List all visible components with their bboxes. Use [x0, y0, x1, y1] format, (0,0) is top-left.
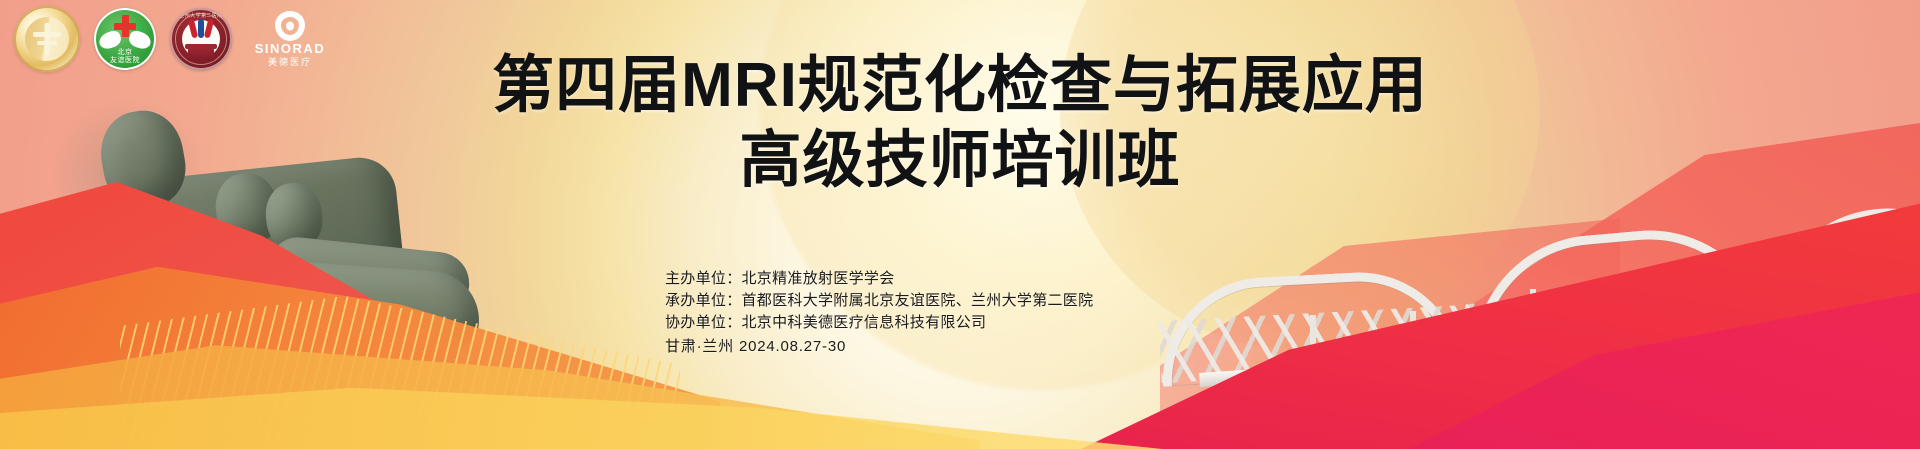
emblem-horizontal-stroke — [33, 32, 61, 37]
friendship-hospital-label: 北京友谊医院 — [94, 49, 156, 65]
title-line-2: 高级技师培训班 — [0, 129, 1920, 192]
co-organizer-unit-line: 协办单位：北京中科美德医疗信息科技有限公司 — [665, 312, 1093, 334]
banner-title-block: 第四届MRI规范化检查与拓展应用 高级技师培训班 — [0, 54, 1920, 192]
sinorad-logo: SINORAD 美德医疗 — [246, 6, 334, 72]
bridge-vertical-bar — [1530, 289, 1536, 351]
dove-icon-left — [97, 29, 123, 51]
bridge-vertical-bar — [1800, 263, 1806, 323]
sinorad-brand-cn-text: 美德医疗 — [268, 57, 312, 67]
beijing-friendship-hospital-logo: 北京友谊医院 — [94, 8, 156, 70]
conference-banner: 北京友谊医院 兰州大学第二医院 SINORAD 美德医疗 第四届MRI规范化检查… — [0, 0, 1920, 449]
organizer-logo-row: 北京友谊医院 兰州大学第二医院 SINORAD 美德医疗 — [14, 6, 334, 72]
zhongshan-bridge-illustration — [1200, 150, 1920, 449]
bridge-vertical-bar — [1310, 315, 1316, 371]
gold-emblem-inner — [25, 17, 69, 61]
emblem-horizontal-stroke-lower — [37, 41, 57, 45]
bridge-pier — [1260, 379, 1286, 431]
seal-arc-text: 兰州大学第二医院 — [170, 12, 232, 19]
hospital-mark-icon — [189, 19, 213, 39]
dove-icon-right — [127, 29, 153, 51]
organizer-unit-line: 承办单位：首都医科大学附属北京友谊医院、兰州大学第二医院 — [665, 290, 1093, 312]
location-date-line: 甘肃·兰州 2024.08.27-30 — [665, 336, 1093, 358]
host-unit-line: 主办单位：北京精准放射医学学会 — [665, 268, 1093, 290]
emblem-vertical-stroke — [45, 23, 50, 55]
lanzhou-university-second-hospital-logo: 兰州大学第二医院 — [170, 8, 232, 70]
organizer-info-block: 主办单位：北京精准放射医学学会 承办单位：首都医科大学附属北京友谊医院、兰州大学… — [665, 268, 1093, 358]
bridge-pier — [1450, 371, 1476, 423]
bridge-vertical-bar — [1640, 285, 1646, 349]
gate-building-icon — [188, 48, 214, 61]
eye-icon — [275, 11, 305, 41]
sinorad-brand-text: SINORAD — [255, 42, 325, 56]
gold-society-emblem-logo — [14, 6, 80, 72]
